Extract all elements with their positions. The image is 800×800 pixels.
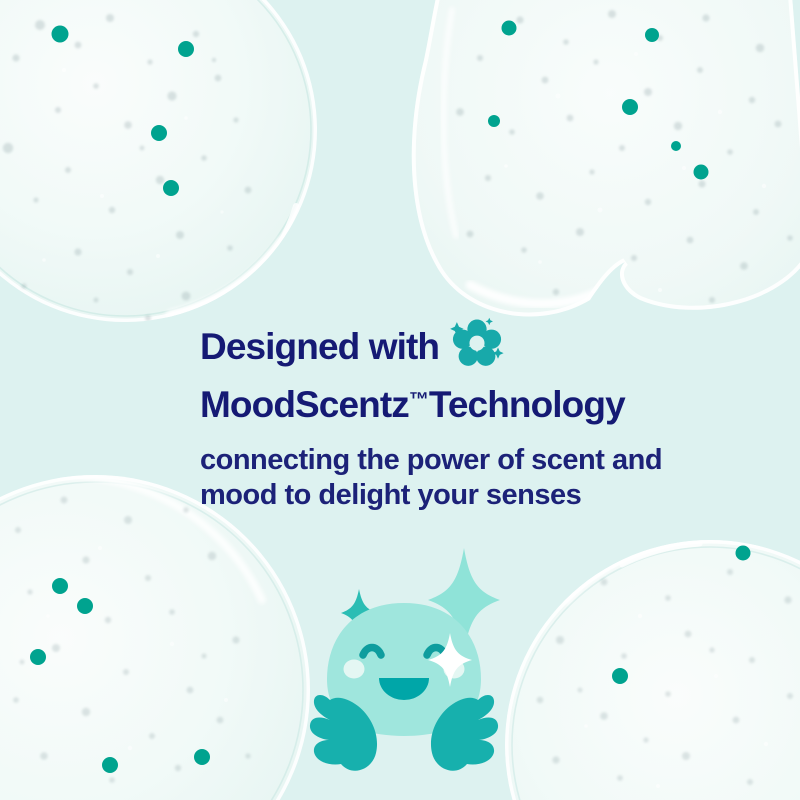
headline-line-2: MoodScentz™ Technology	[200, 386, 760, 430]
poster-canvas: Designed with MoodScentz™ T	[0, 0, 800, 800]
brand-name: MoodScentz	[200, 386, 409, 423]
headline-technology-word: Technology	[429, 386, 625, 423]
headline-text-designed-with: Designed with	[200, 328, 439, 365]
subtitle-block: connecting the power of scent and mood t…	[200, 443, 760, 513]
subtitle-line-2: mood to delight your senses	[200, 478, 760, 513]
headline-line-1: Designed with	[200, 324, 760, 368]
mascot-blush-left	[344, 660, 365, 679]
headline-block: Designed with MoodScentz™ T	[200, 324, 760, 513]
flower-icon	[449, 316, 505, 372]
subtitle-line-1: connecting the power of scent and	[200, 443, 760, 478]
